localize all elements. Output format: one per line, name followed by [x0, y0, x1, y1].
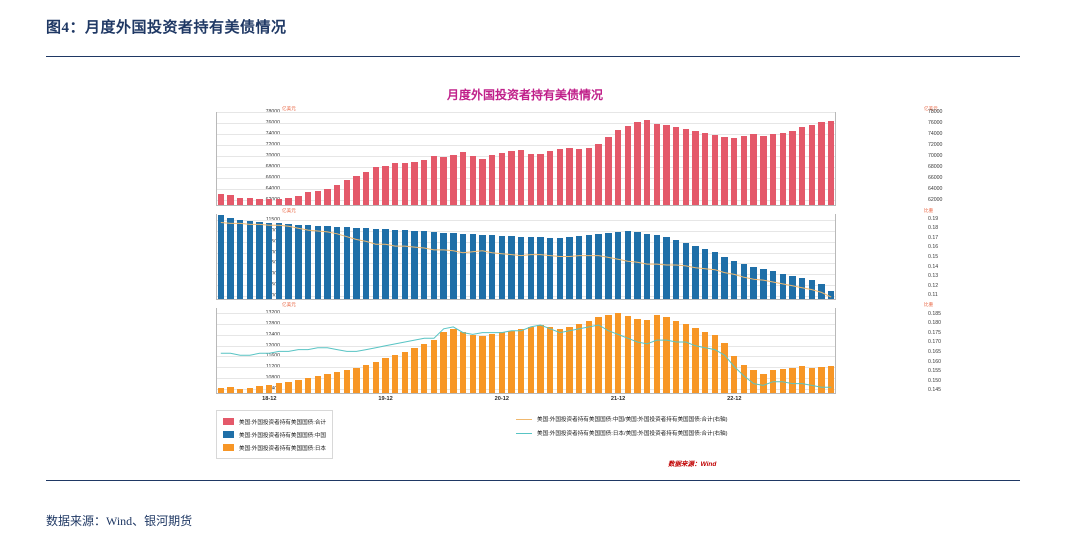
bar: [625, 126, 631, 205]
legend-label: 美国:外国投资者持有美国国债:日本/美国:外国投资者持有美国国债:合计(右轴): [537, 429, 728, 437]
y-tick-label: 78000: [928, 109, 942, 115]
panel-japan: 亿美元 比重 104001080011200116001200012400128…: [216, 308, 836, 394]
bar: [508, 151, 514, 205]
bar: [421, 160, 427, 205]
bar: [566, 148, 572, 205]
bar: [683, 129, 689, 205]
chart-container: 月度外国投资者持有美债情况 亿美元 亿美元 620006400066000680…: [130, 86, 920, 466]
bar: [499, 153, 505, 205]
bar: [305, 192, 311, 205]
bar: [440, 157, 446, 205]
bar: [663, 125, 669, 205]
bar: [537, 154, 543, 205]
x-tick-label: 18-12: [262, 396, 276, 402]
bar: [256, 199, 262, 205]
legend-lines: 美国:外国投资者持有美国国债:中国/美国:外国投资者持有美国国债:合计(右轴)美…: [516, 412, 728, 440]
panel-total-plot: [216, 112, 836, 206]
legend-item[interactable]: 美国:外国投资者持有美国国债:中国/美国:外国投资者持有美国国债:合计(右轴): [516, 412, 728, 426]
bar: [750, 134, 756, 205]
y-tick-label: 0.185: [928, 311, 941, 317]
y-tick-label: 0.12: [928, 283, 938, 289]
panel-japan-plot: [216, 308, 836, 394]
x-tick-label: 20-12: [495, 396, 509, 402]
source-note: 数据来源：Wind、银河期货: [46, 512, 192, 529]
y-tick-label: 64000: [928, 186, 942, 192]
bar: [799, 127, 805, 205]
y-tick-label: 0.16: [928, 244, 938, 250]
legend-line-swatch: [516, 416, 532, 423]
bar: [644, 120, 650, 205]
bar-series-total: [216, 112, 836, 205]
bar: [411, 162, 417, 205]
legend-swatch: [223, 444, 234, 451]
bar: [479, 159, 485, 206]
y-tick-label: 0.15: [928, 254, 938, 260]
bar: [285, 198, 291, 205]
bar: [489, 155, 495, 205]
y-tick-label: 0.180: [928, 320, 941, 326]
bar: [324, 189, 330, 205]
legend-line-swatch: [516, 430, 532, 437]
x-tick-label: 22-12: [727, 396, 741, 402]
legend-label: 美国:外国投资者持有美国国债:日本: [239, 444, 326, 452]
y-tick-label: 62000: [928, 197, 942, 203]
bar: [702, 133, 708, 205]
axis-baseline: [216, 205, 836, 206]
y-tick-label: 0.175: [928, 330, 941, 336]
bar: [382, 166, 388, 205]
bar: [315, 191, 321, 205]
bar: [363, 172, 369, 205]
bar: [741, 136, 747, 205]
bar: [227, 195, 233, 205]
divider-top: [46, 56, 1020, 57]
y-tick-label: 72000: [928, 142, 942, 148]
bar: [237, 198, 243, 205]
y-tick-label: 0.18: [928, 225, 938, 231]
legend-swatch: [223, 418, 234, 425]
line-series-china-share: [216, 214, 836, 300]
legend-item[interactable]: 美国:外国投资者持有美国国债:日本: [223, 441, 326, 454]
legend-bars: 美国:外国投资者持有美国国债:合计美国:外国投资者持有美国国债:中国美国:外国投…: [216, 410, 333, 459]
bar: [450, 155, 456, 205]
y-tick-label: 0.11: [928, 292, 938, 298]
bar: [247, 198, 253, 205]
bar: [518, 150, 524, 205]
bar: [266, 199, 272, 205]
panel-china-plot: [216, 214, 836, 300]
y-tick-label: 0.145: [928, 387, 941, 393]
y-tick-label: 74000: [928, 131, 942, 137]
bar: [789, 131, 795, 205]
bar: [654, 124, 660, 206]
series-line: [221, 325, 831, 387]
bar: [334, 185, 340, 205]
bar: [770, 134, 776, 205]
series-line: [221, 223, 831, 298]
bar: [557, 149, 563, 205]
divider-bottom: [46, 480, 1020, 481]
legend-label: 美国:外国投资者持有美国国债:中国: [239, 431, 326, 439]
bar: [673, 127, 679, 205]
bar: [392, 163, 398, 205]
bar: [218, 194, 224, 205]
bar: [576, 149, 582, 205]
chart-legend: 美国:外国投资者持有美国国债:合计美国:外国投资者持有美国国债:中国美国:外国投…: [216, 410, 916, 466]
bar: [818, 122, 824, 205]
bar: [295, 196, 301, 205]
bar: [595, 144, 601, 205]
bar: [547, 151, 553, 205]
panel-japan-yaxis-right: 0.1450.1500.1550.1600.1650.1700.1750.180…: [924, 308, 984, 394]
y-tick-label: 0.17: [928, 235, 938, 241]
bar: [373, 167, 379, 205]
legend-swatch: [223, 431, 234, 438]
legend-item[interactable]: 美国:外国投资者持有美国国债:合计: [223, 415, 326, 428]
y-tick-label: 76000: [928, 120, 942, 126]
chart-title: 月度外国投资者持有美债情况: [130, 86, 920, 103]
bar: [809, 125, 815, 205]
y-tick-label: 70000: [928, 153, 942, 159]
bar: [605, 137, 611, 205]
y-tick-label: 0.160: [928, 359, 941, 365]
y-tick-label: 0.170: [928, 339, 941, 345]
panel-china-yaxis-right: 0.110.120.130.140.150.160.170.180.19: [924, 214, 984, 300]
legend-label: 美国:外国投资者持有美国国债:中国/美国:外国投资者持有美国国债:合计(右轴): [537, 415, 728, 423]
x-axis-tick-labels: 18-1219-1220-1221-1222-12: [216, 396, 836, 408]
y-tick-label: 0.155: [928, 368, 941, 374]
bar: [586, 148, 592, 205]
bar: [276, 199, 282, 205]
bar: [615, 130, 621, 205]
bar: [353, 176, 359, 205]
bar: [460, 152, 466, 205]
y-tick-label: 0.14: [928, 264, 938, 270]
bar: [721, 137, 727, 205]
y-tick-label: 68000: [928, 164, 942, 170]
bar: [731, 138, 737, 205]
line-series-japan-share: [216, 308, 836, 394]
bar: [712, 135, 718, 205]
x-tick-label: 21-12: [611, 396, 625, 402]
bar: [344, 180, 350, 205]
bar: [402, 163, 408, 205]
bar: [780, 133, 786, 205]
bar: [634, 122, 640, 205]
y-tick-label: 0.13: [928, 273, 938, 279]
panel-total-yaxis-right: 6200064000660006800070000720007400076000…: [924, 112, 984, 206]
y-tick-label: 0.150: [928, 378, 941, 384]
x-tick-label: 19-12: [378, 396, 392, 402]
chart-source-label: 数据来源：Wind: [668, 458, 716, 468]
panel-total: 亿美元 亿美元 62000640006600068000700007200074…: [216, 112, 836, 206]
y-tick-label: 0.165: [928, 349, 941, 355]
y-tick-label: 66000: [928, 175, 942, 181]
y-tick-label: 0.19: [928, 216, 938, 222]
legend-item[interactable]: 美国:外国投资者持有美国国债:日本/美国:外国投资者持有美国国债:合计(右轴): [516, 426, 728, 440]
figure-caption: 图4：月度外国投资者持有美债情况: [46, 16, 287, 37]
bar: [828, 121, 834, 205]
bar: [760, 136, 766, 205]
bar: [470, 156, 476, 205]
legend-item[interactable]: 美国:外国投资者持有美国国债:中国: [223, 428, 326, 441]
bar: [692, 131, 698, 205]
bar: [528, 154, 534, 205]
panel-china: 亿美元 比重 800085009000950010000105001100011…: [216, 214, 836, 300]
legend-label: 美国:外国投资者持有美国国债:合计: [239, 418, 326, 426]
bar: [431, 156, 437, 205]
